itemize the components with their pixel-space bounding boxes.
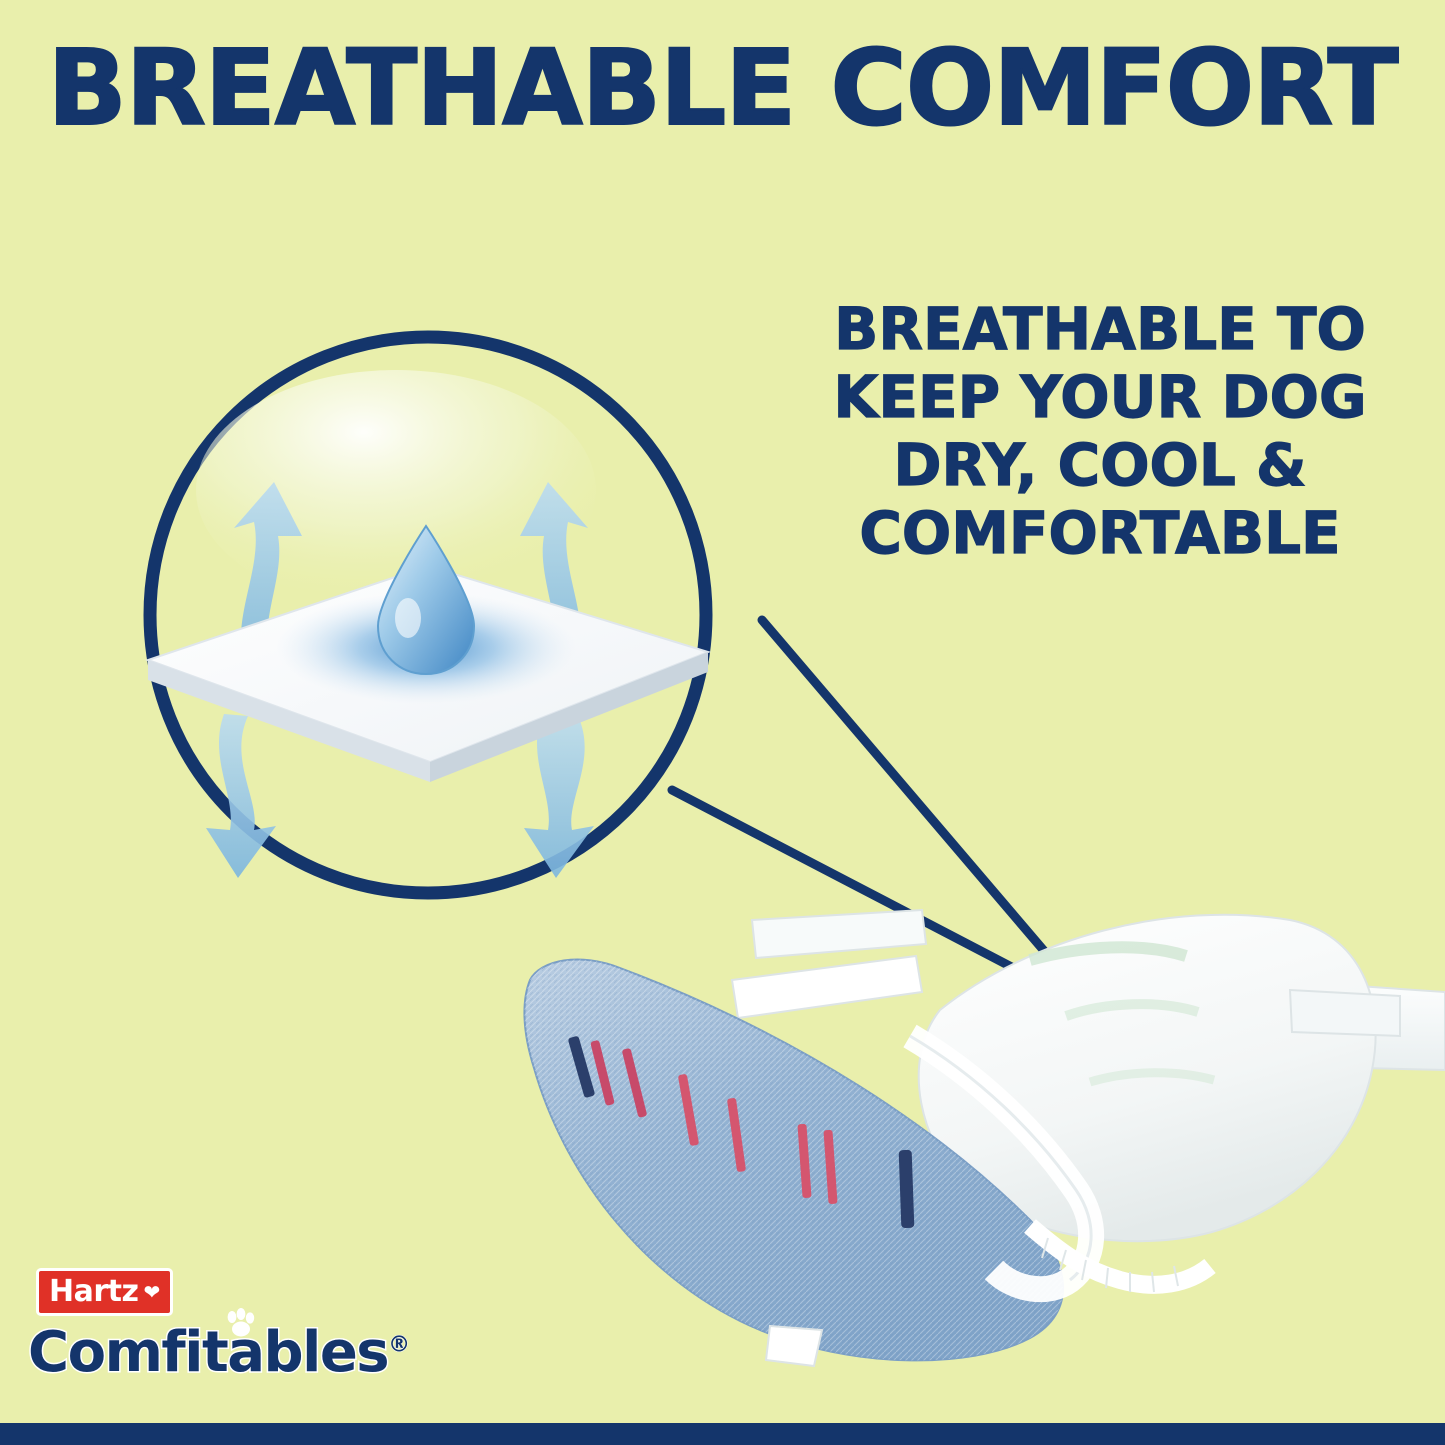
benefit-copy: BREATHABLE TO KEEP YOUR DOG DRY, COOL & …: [800, 296, 1400, 567]
benefit-copy-line-4: COMFORTABLE: [800, 500, 1400, 568]
benefit-copy-line-2: KEEP YOUR DOG: [800, 364, 1400, 432]
registered-mark: ®: [388, 1332, 409, 1357]
hartz-wordmark: Hartz: [49, 1274, 138, 1309]
footer-bar: [0, 1423, 1445, 1445]
wordmark-part-1: Com: [28, 1320, 161, 1385]
product-wordmark: Comfitables®: [28, 1320, 409, 1385]
hartz-logo: Hartz ❤: [36, 1268, 173, 1316]
page-title: BREATHABLE COMFORT: [0, 36, 1445, 140]
benefit-copy-line-1: BREATHABLE TO: [800, 296, 1400, 364]
dog-diaper-product-photo: [470, 860, 1445, 1400]
promo-image: BREATHABLE COMFORT BREATHABLE TO KEEP YO…: [0, 0, 1445, 1445]
benefit-copy-line-3: DRY, COOL &: [800, 432, 1400, 500]
heart-icon: ❤: [143, 1282, 159, 1302]
wordmark-part-2: fit: [161, 1320, 227, 1385]
breathability-diagram: [78, 330, 778, 900]
brand-logo: Hartz ❤ Comfitables®: [28, 1268, 368, 1386]
wordmark-part-3: ables: [227, 1320, 388, 1385]
